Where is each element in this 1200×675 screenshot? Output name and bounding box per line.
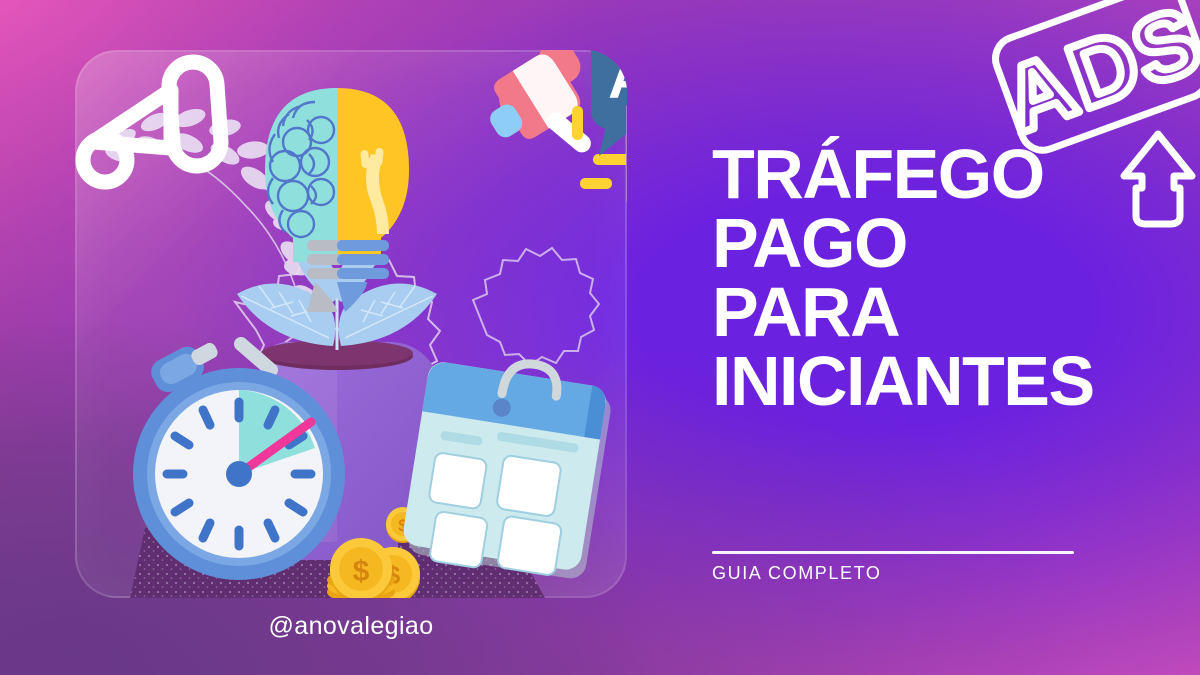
subtitle-divider — [712, 551, 1074, 554]
headline-line-2: PAGO — [712, 209, 1182, 278]
poster-canvas: AD — [0, 0, 1200, 675]
calendar-icon — [399, 348, 616, 585]
headline-line-4: INICIANTES — [712, 347, 1182, 416]
coin-symbol: $ — [353, 555, 370, 588]
subtitle-text: GUIA COMPLETO — [712, 563, 882, 584]
illustration-group: AD — [75, 50, 627, 598]
bubble-pole — [626, 106, 627, 202]
social-handle: @anovalegiao — [0, 612, 702, 641]
gear-outline-icon-small — [473, 248, 599, 365]
headline-line-1: TRÁFEGO — [712, 140, 1182, 209]
illustration-clip: AD — [75, 50, 627, 598]
page-title: TRÁFEGO PAGO PARA INICIANTES — [712, 140, 1182, 416]
headline-line-3: PARA — [712, 278, 1182, 347]
